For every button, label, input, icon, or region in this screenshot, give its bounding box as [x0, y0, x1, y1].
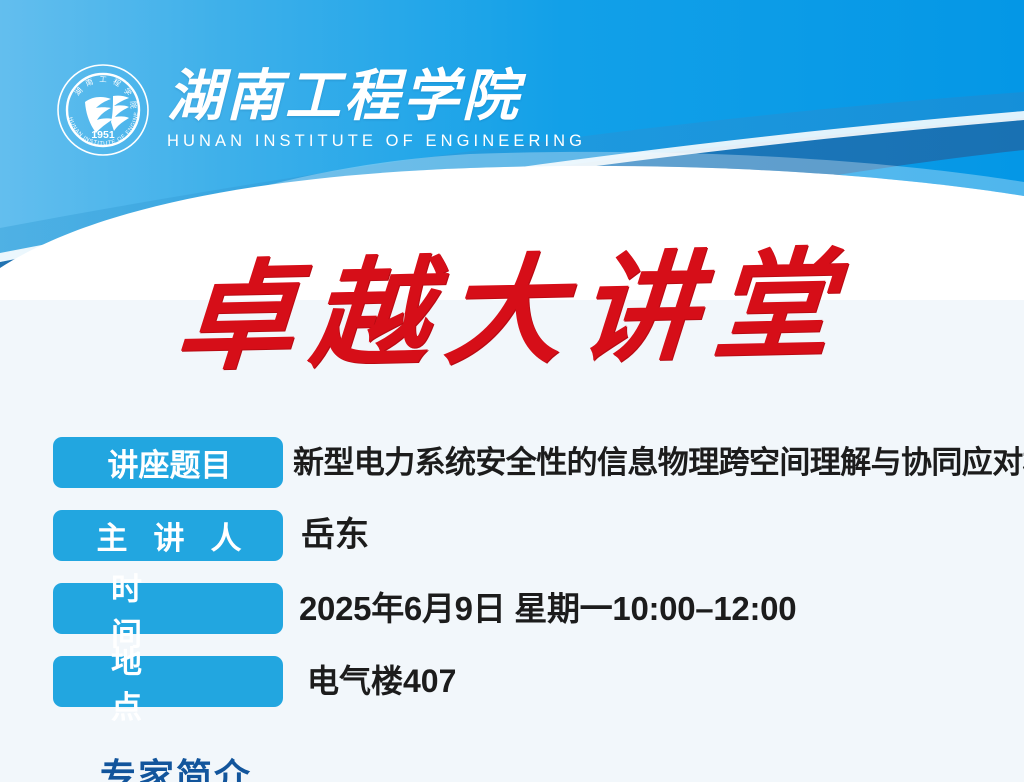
section-heading-expert-bio: 专家简介: [100, 748, 252, 782]
info-value-topic: 新型电力系统安全性的信息物理跨空间理解与协同应对机制: [293, 437, 1024, 488]
brand-lockup: 1951 湖南工程学院 HUNAN INSTITUTE OF ENGINEERI…: [55, 62, 586, 158]
university-crest-icon: 1951 湖南工程学院 HUNAN INSTITUTE OF ENGINEERI…: [55, 62, 151, 158]
poster-main-title: 卓越大讲堂: [0, 243, 1024, 382]
main-title-text: 卓越大讲堂: [172, 236, 852, 389]
info-value-location: 电气楼407: [307, 656, 456, 707]
info-label-time: 时间: [53, 583, 283, 634]
info-value-time: 2025年6月9日 星期一10:00–12:00: [299, 583, 796, 634]
lecture-info-list: 讲座题目 新型电力系统安全性的信息物理跨空间理解与协同应对机制 主讲人 岳东 时…: [0, 437, 1024, 729]
info-row-topic: 讲座题目 新型电力系统安全性的信息物理跨空间理解与协同应对机制: [0, 437, 1024, 510]
info-row-location: 地点 电气楼407: [0, 656, 1024, 729]
school-name-group: 湖南工程学院 HUNAN INSTITUTE OF ENGINEERING: [167, 69, 586, 150]
info-label-speaker: 主讲人: [53, 510, 283, 561]
info-value-speaker: 岳东: [301, 510, 369, 561]
crest-year: 1951: [91, 129, 115, 141]
info-label-topic: 讲座题目: [53, 437, 283, 488]
school-name-chinese: 湖南工程学院: [167, 69, 586, 126]
lecture-poster: 1951 湖南工程学院 HUNAN INSTITUTE OF ENGINEERI…: [0, 0, 1024, 782]
school-name-english: HUNAN INSTITUTE OF ENGINEERING: [167, 132, 586, 151]
info-label-location: 地点: [53, 656, 283, 707]
